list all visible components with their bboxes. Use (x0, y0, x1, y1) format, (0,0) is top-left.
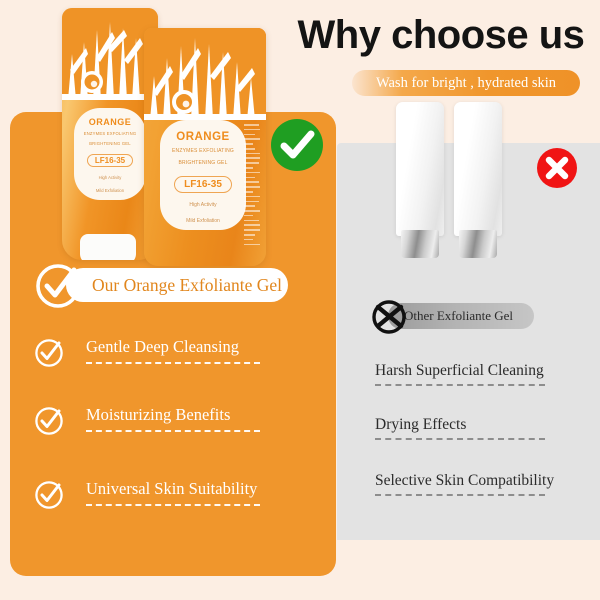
underline-dashes (86, 430, 260, 432)
ours-feature-row-3: Universal Skin Suitability (34, 478, 314, 524)
ours-feature-row-1: Gentle Deep Cleansing (34, 336, 314, 382)
other-product-tubes (396, 102, 518, 260)
circle-check-icon (34, 480, 64, 510)
product-claim-line2: Mild Exfoliation (160, 218, 246, 225)
other-tube-body (396, 102, 444, 236)
other-drawback-row-3: Selective Skin Compatibility (375, 470, 595, 510)
underline-dashes (375, 494, 545, 496)
product-tube-large: ORANGE ENZYMES EXFOLIATING BRIGHTENING G… (144, 28, 266, 266)
ours-feature-label: Moisturizing Benefits (86, 404, 230, 426)
other-tube-body (454, 102, 502, 236)
circle-check-icon (34, 338, 64, 368)
tube-cap-small (80, 234, 136, 260)
product-descriptor-line1: ENZYMES EXFOLIATING (74, 131, 146, 137)
other-drawback-row-2: Drying Effects (375, 414, 595, 454)
product-code: LF16-35 (87, 154, 133, 167)
other-drawback-label: Selective Skin Compatibility (375, 470, 554, 491)
product-descriptor-line2: BRIGHTENING GEL (160, 160, 246, 167)
underline-dashes (86, 504, 260, 506)
other-drawback-label: Drying Effects (375, 414, 466, 435)
orange-tree-pattern-large (144, 28, 266, 120)
product-label-large: ORANGE ENZYMES EXFOLIATING BRIGHTENING G… (160, 120, 246, 230)
page-title: Why choose us (288, 12, 594, 58)
underline-dashes (375, 384, 545, 386)
product-claim-line1: High Activity (160, 202, 246, 209)
other-tube-left (396, 102, 444, 260)
product-label-small: ORANGE ENZYMES EXFOLIATING BRIGHTENING G… (74, 108, 146, 200)
ours-title-label: Our Orange Exfoliante Gel (92, 268, 280, 302)
ingredient-microtext (244, 124, 260, 252)
product-code: LF16-35 (174, 176, 232, 193)
other-drawback-label: Harsh Superficial Cleaning (375, 360, 544, 381)
other-title-pill: Other Exfoliante Gel (388, 303, 534, 329)
our-product-tubes: ORANGE ENZYMES EXFOLIATING BRIGHTENING G… (58, 0, 288, 270)
red-cross-badge (535, 146, 579, 190)
other-tube-cap (459, 230, 497, 258)
other-tube-right (454, 102, 502, 260)
ours-feature-row-2: Moisturizing Benefits (34, 404, 314, 450)
subtitle-badge: Wash for bright , hydrated skin (352, 70, 580, 96)
infographic-canvas: Why choose us Wash for bright , hydrated… (0, 0, 600, 600)
other-tube-cap (401, 230, 439, 258)
circle-check-icon (34, 262, 82, 310)
underline-dashes (375, 438, 545, 440)
other-title-label: Other Exfoliante Gel (404, 303, 528, 329)
ours-feature-label: Gentle Deep Cleansing (86, 336, 239, 358)
other-drawback-row-1: Harsh Superficial Cleaning (375, 360, 595, 400)
product-descriptor-line1: ENZYMES EXFOLIATING (160, 148, 246, 155)
underline-dashes (86, 362, 260, 364)
product-brand: ORANGE (74, 117, 146, 127)
product-brand: ORANGE (160, 131, 246, 143)
ours-title-pill: Our Orange Exfoliante Gel (66, 268, 288, 302)
product-claim-line1: High Activity (74, 175, 146, 181)
product-descriptor-line2: BRIGHTENING GEL (74, 141, 146, 147)
product-claim-line2: Mild Exfoliation (74, 188, 146, 194)
ours-feature-label: Universal Skin Suitability (86, 478, 257, 500)
circle-x-icon (369, 296, 409, 336)
circle-check-icon (34, 406, 64, 436)
green-check-badge (269, 117, 325, 173)
